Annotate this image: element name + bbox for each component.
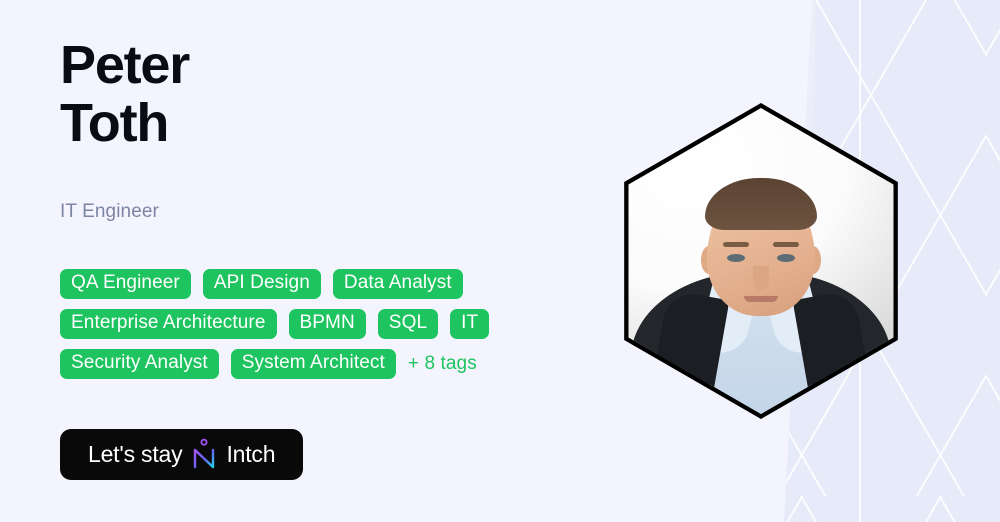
more-tags-link[interactable]: + 8 tags [408, 353, 477, 375]
skill-tag[interactable]: Security Analyst [60, 349, 219, 379]
page-title: Peter Toth [60, 36, 620, 152]
photo-nose [753, 266, 769, 290]
profile-card: Peter Toth IT Engineer QA Engineer API D… [0, 0, 1000, 522]
photo-eye-left [727, 254, 745, 262]
photo-eyebrow-right [773, 242, 799, 247]
lets-stay-intch-button[interactable]: Let's stay Intch [60, 429, 303, 480]
cta-label-after-logo: Intch [226, 443, 275, 466]
avatar-photo: Photo of Peter Toth, man in dark suit ja… [608, 108, 914, 414]
photo-eyebrow-left [723, 242, 749, 247]
skill-tag[interactable]: QA Engineer [60, 269, 191, 299]
cta-label-before-logo: Let's stay [88, 443, 182, 466]
skill-tag[interactable]: IT [450, 309, 489, 339]
profile-text-column: Peter Toth IT Engineer [60, 36, 620, 152]
avatar[interactable]: Photo of Peter Toth, man in dark suit ja… [603, 103, 919, 419]
photo-mouth [744, 296, 778, 302]
avatar-alt-text: Photo of Peter Toth, man in dark suit ja… [608, 108, 609, 109]
intch-logo-icon [191, 438, 217, 470]
photo-eye-right [777, 254, 795, 262]
skill-tag[interactable]: API Design [203, 269, 321, 299]
photo-hair [705, 178, 817, 230]
profile-headline: IT Engineer [60, 201, 159, 223]
skill-tag[interactable]: BPMN [289, 309, 366, 339]
avatar-hexagon-frame: Photo of Peter Toth, man in dark suit ja… [603, 103, 919, 419]
skill-tag[interactable]: Data Analyst [333, 269, 463, 299]
skill-tag[interactable]: SQL [378, 309, 438, 339]
skill-tag[interactable]: Enterprise Architecture [60, 309, 277, 339]
skill-tag-list: QA Engineer API Design Data Analyst Ente… [60, 269, 620, 379]
skill-tag[interactable]: System Architect [231, 349, 396, 379]
